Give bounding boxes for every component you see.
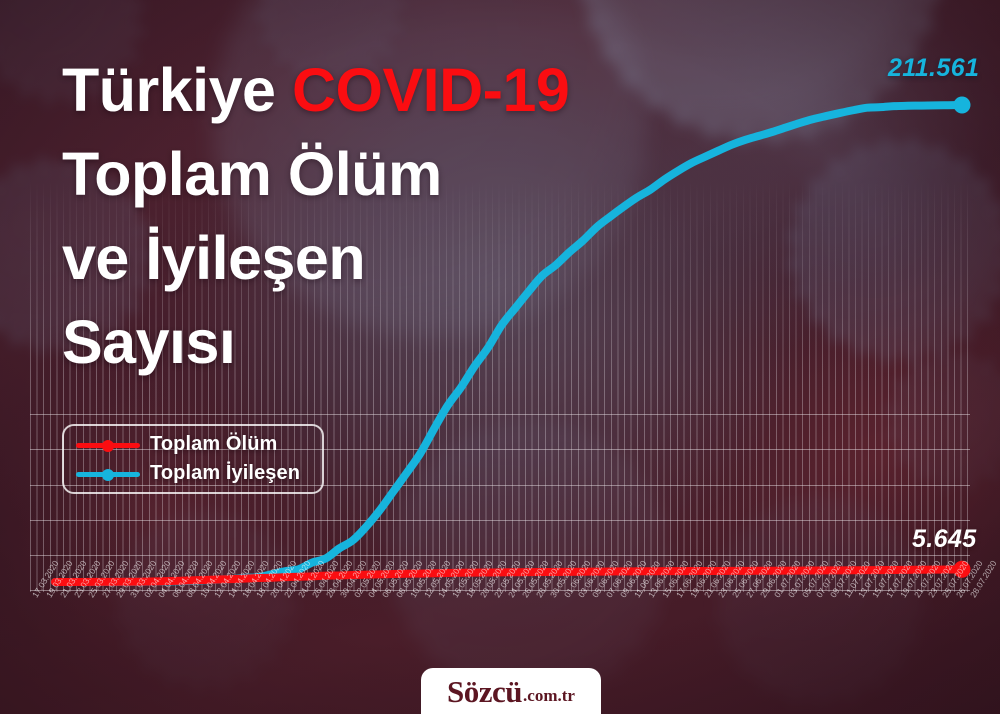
title-country: Türkiye [62, 56, 292, 124]
legend-item-deaths: Toplam Ölüm [76, 433, 322, 456]
title-line-3: ve İyileşen [62, 216, 702, 300]
recovered-value-label: 211.561 [888, 54, 979, 83]
title-line-1: Türkiye COVID-19 [62, 48, 702, 132]
infographic-canvas: Türkiye COVID-19 Toplam Ölüm ve İyileşen… [0, 0, 1000, 714]
chart-legend: Toplam Ölüm Toplam İyileşen [62, 424, 324, 494]
legend-label-deaths: Toplam Ölüm [150, 433, 277, 456]
sozcu-logo[interactable]: Sözcü .com.tr [421, 668, 601, 714]
title-line-4: Sayısı [62, 300, 702, 384]
deaths-value-label: 5.645 [912, 525, 977, 554]
legend-marker-deaths-icon [76, 439, 140, 451]
legend-item-recovered: Toplam İyileşen [76, 462, 322, 485]
x-axis-date-labels: 17.03.202019.03.202021.03.202023.03.2020… [30, 594, 970, 644]
legend-label-recovered: Toplam İyileşen [150, 462, 300, 485]
page-title: Türkiye COVID-19 Toplam Ölüm ve İyileşen… [62, 48, 702, 384]
title-covid-highlight: COVID-19 [292, 56, 569, 124]
series-endpoint-recovered-icon [954, 97, 971, 114]
logo-domain: .com.tr [523, 687, 575, 704]
legend-marker-recovered-icon [76, 468, 140, 480]
logo-name: Sözcü [447, 676, 522, 707]
title-line-2: Toplam Ölüm [62, 132, 702, 216]
